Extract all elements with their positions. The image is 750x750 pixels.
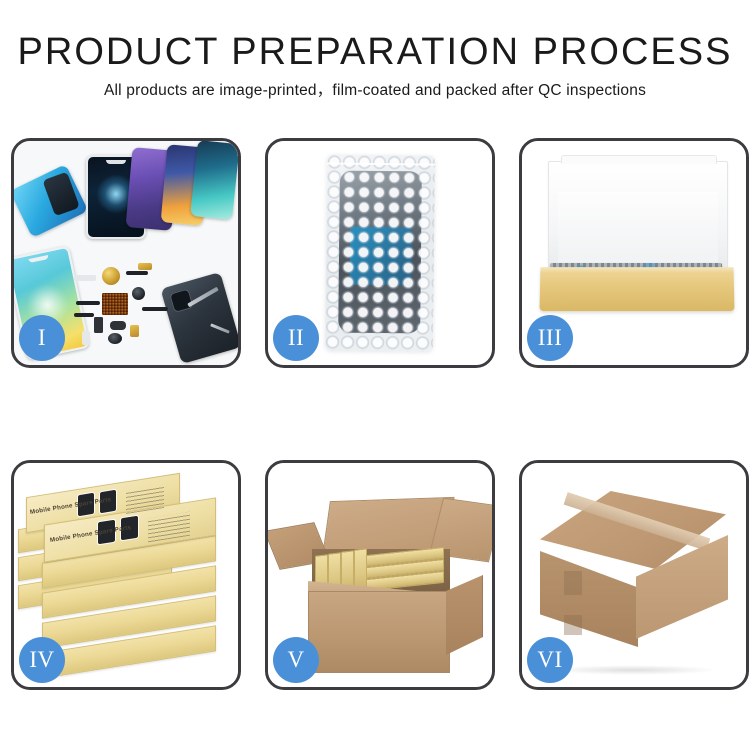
- box-base-kraft-icon: [539, 267, 734, 311]
- step-badge-2: II: [273, 315, 319, 361]
- step-badge-1: I: [19, 315, 65, 361]
- box-lid-open-icon: [548, 161, 728, 273]
- part-connector-icon: [74, 275, 96, 281]
- part-flex-cable-2-icon: [76, 301, 100, 305]
- step-panel-6: VI: [519, 460, 749, 690]
- part-flex-cable-4-icon: [142, 307, 168, 311]
- carton-seam-tab: [564, 615, 582, 635]
- steps-grid: I II: [11, 138, 739, 690]
- phone-screen-blue-icon: [14, 164, 88, 238]
- phone-back-housing-icon: [160, 272, 238, 364]
- phone-screen-teal-icon: [190, 141, 238, 220]
- step-panel-2: II: [265, 138, 495, 368]
- part-vibrator-icon: [102, 267, 120, 285]
- part-gold-contact-icon: [138, 263, 152, 270]
- carton-front-face: [308, 591, 450, 673]
- step-badge-3: III: [527, 315, 573, 361]
- step-badge-5: V: [273, 637, 319, 683]
- step-panel-4: Mobile Phone Spare Parts Mobile Phone Sp…: [11, 460, 241, 690]
- box-rim: [540, 267, 733, 274]
- product-preparation-infographic: PRODUCT PREPARATION PROCESS All products…: [0, 0, 750, 750]
- header: PRODUCT PREPARATION PROCESS All products…: [0, 0, 750, 101]
- carton-seam-tab: [564, 571, 582, 595]
- step-1-image: I: [14, 141, 238, 365]
- carton-side-face: [446, 575, 483, 655]
- carton-left-face: [540, 551, 638, 647]
- step-panel-5: V: [265, 460, 495, 690]
- step-5-image: V: [268, 463, 492, 687]
- step-3-image: III: [522, 141, 746, 365]
- part-battery-icon: [82, 331, 90, 345]
- carton-shadow: [548, 665, 718, 675]
- bubble-film-texture: [325, 154, 435, 351]
- step-badge-4: IV: [19, 637, 65, 683]
- part-flex-cable-3-icon: [74, 313, 94, 317]
- part-camera-lens-icon: [132, 287, 145, 300]
- step-badge-6: VI: [527, 637, 573, 683]
- step-panel-3: III: [519, 138, 749, 368]
- part-flex-cable-icon: [126, 271, 148, 275]
- part-sim-tray-icon: [130, 325, 139, 337]
- box-lid-inner: [558, 192, 718, 266]
- step-4-image: Mobile Phone Spare Parts Mobile Phone Sp…: [14, 463, 238, 687]
- part-ic-chip-icon: [102, 293, 128, 315]
- page-subtitle: All products are image-printed，film-coat…: [0, 81, 750, 101]
- part-receiver-icon: [108, 333, 122, 344]
- part-button-icon: [110, 321, 126, 330]
- step-panel-1: I: [11, 138, 241, 368]
- page-title: PRODUCT PREPARATION PROCESS: [0, 30, 750, 74]
- step-2-image: II: [268, 141, 492, 365]
- part-speaker-icon: [94, 317, 103, 333]
- bubble-wrapped-phone-icon: [325, 154, 435, 351]
- step-6-image: VI: [522, 463, 746, 687]
